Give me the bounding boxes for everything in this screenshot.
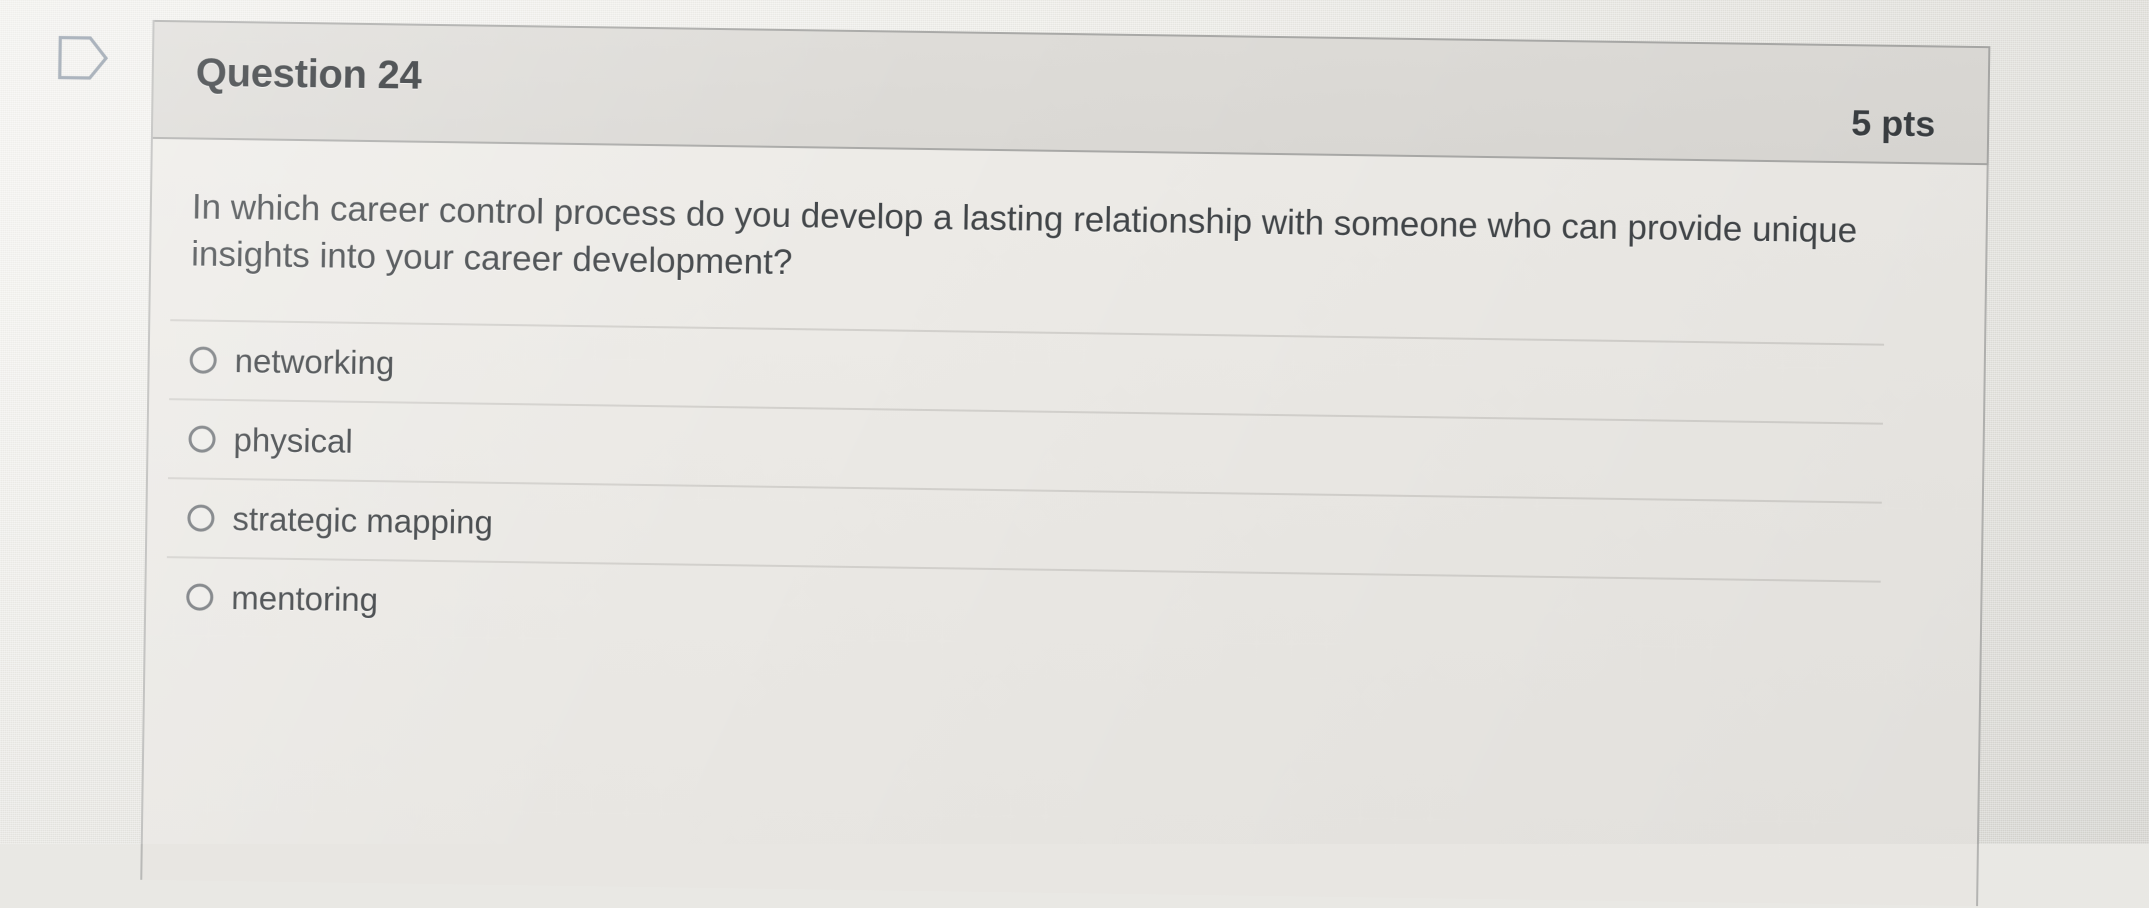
- flag-outline-icon[interactable]: [57, 35, 110, 82]
- answer-option-label: strategic mapping: [232, 500, 493, 542]
- answer-option-label: networking: [234, 342, 394, 382]
- answer-options-list: networking physical strategic mapping me…: [146, 319, 1984, 661]
- question-points-badge: 5 pts: [1851, 46, 1988, 146]
- question-prompt-text: In which career control process do you d…: [151, 139, 1987, 303]
- question-body: In which career control process do you d…: [142, 139, 1988, 906]
- radio-button-icon[interactable]: [187, 505, 214, 532]
- radio-button-icon[interactable]: [190, 347, 217, 374]
- radio-button-icon[interactable]: [188, 426, 215, 453]
- question-title: Question 24: [153, 22, 422, 99]
- quiz-screen: Question 24 5 pts In which career contro…: [0, 0, 2149, 870]
- answer-option-label: mentoring: [231, 579, 378, 619]
- radio-button-icon[interactable]: [186, 584, 213, 611]
- question-card: Question 24 5 pts In which career contro…: [140, 20, 1990, 906]
- answer-option-label: physical: [233, 421, 353, 461]
